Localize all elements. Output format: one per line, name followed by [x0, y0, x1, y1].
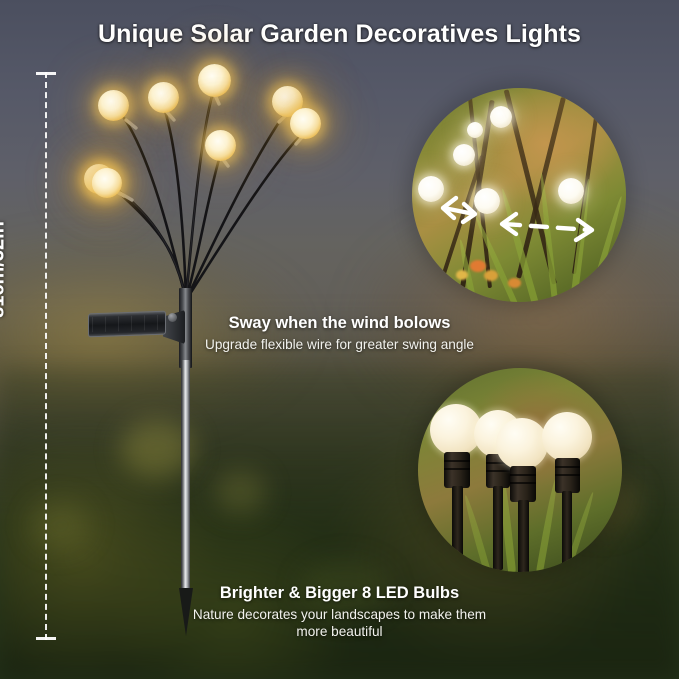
inset-sway-subtext: Upgrade flexible wire for greater swing … [0, 336, 679, 353]
inset-bulbs-photo [418, 368, 622, 572]
inset-bulbs-heading: Brighter & Bigger 8 LED Bulbs [0, 584, 679, 603]
sway-arrow-annotations [412, 88, 626, 302]
product-marketing-image: Unique Solar Garden Decoratives Lights 8… [0, 0, 679, 679]
led-bulb [98, 90, 129, 121]
led-cap [444, 452, 470, 488]
product-stake [181, 360, 190, 592]
led-bulb [92, 168, 122, 198]
led-cap-ring [444, 460, 470, 462]
led-cap-ring [510, 482, 536, 484]
led-globe [496, 418, 548, 470]
led-stem [452, 486, 463, 568]
inset-sway-heading: Sway when the wind bolows [0, 314, 679, 333]
led-bulb [205, 130, 236, 161]
inset-sway-caption: Sway when the wind bolows Upgrade flexib… [0, 314, 679, 353]
led-bulb [290, 108, 321, 139]
led-cap [510, 466, 536, 502]
led-bulb [198, 64, 231, 97]
led-stem [518, 500, 529, 572]
led-cap-ring [510, 474, 536, 476]
led-bulb-closeup [542, 412, 596, 568]
led-cap-ring [555, 474, 580, 476]
led-cap-ring [555, 466, 580, 468]
led-cap-ring [444, 468, 470, 470]
led-globe [542, 412, 592, 462]
led-stem [562, 491, 572, 571]
inset-bulbs-caption: Brighter & Bigger 8 LED Bulbs Nature dec… [0, 584, 679, 640]
inset-sway-photo [412, 88, 626, 302]
led-bulb [148, 82, 179, 113]
inset-bulbs-subtext: Nature decorates your landscapes to make… [190, 606, 490, 640]
